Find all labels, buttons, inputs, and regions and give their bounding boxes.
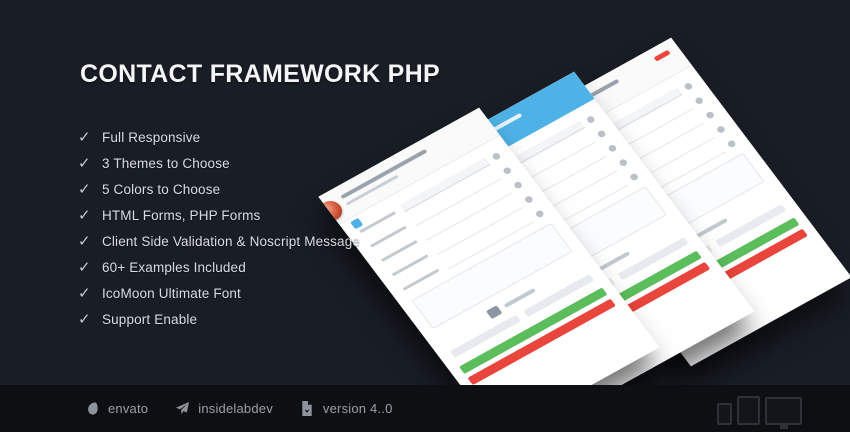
feature-item: ✓ Full Responsive	[78, 124, 360, 150]
check-icon: ✓	[78, 286, 102, 301]
feature-item: ✓ 3 Themes to Choose	[78, 150, 360, 176]
footer-item-author[interactable]: insidelabdev	[174, 401, 273, 417]
feature-label: HTML Forms, PHP Forms	[102, 208, 260, 223]
feature-item: ✓ HTML Forms, PHP Forms	[78, 202, 360, 228]
footer-label: envato	[108, 401, 148, 416]
feature-item: ✓ IcoMoon Ultimate Font	[78, 280, 360, 306]
promo-banner: CONTACT FRAMEWORK PHP ✓ Full Responsive …	[0, 0, 850, 432]
check-icon: ✓	[78, 312, 102, 327]
feature-item: ✓ 60+ Examples Included	[78, 254, 360, 280]
status-badge	[654, 50, 671, 62]
check-icon: ✓	[78, 234, 102, 249]
feature-label: 5 Colors to Choose	[102, 182, 220, 197]
check-icon: ✓	[78, 182, 102, 197]
envato-leaf-icon	[84, 401, 100, 417]
feature-label: 3 Themes to Choose	[102, 156, 230, 171]
footer-item-version[interactable]: version 4..0	[299, 401, 393, 417]
check-icon: ✓	[78, 130, 102, 145]
check-icon: ✓	[78, 156, 102, 171]
tablet-icon	[737, 396, 760, 425]
feature-item: ✓ Client Side Validation & Noscript Mess…	[78, 228, 360, 254]
footer-label: version 4..0	[323, 401, 393, 416]
paper-plane-icon	[174, 401, 190, 417]
feature-label: Support Enable	[102, 312, 197, 327]
device-support-icons	[717, 396, 802, 425]
feature-list: ✓ Full Responsive ✓ 3 Themes to Choose ✓…	[78, 124, 360, 332]
desktop-icon	[765, 397, 802, 425]
footer-bar: envato insidelabdev version 4..0	[0, 385, 850, 432]
check-icon: ✓	[78, 208, 102, 223]
feature-label: Full Responsive	[102, 130, 200, 145]
footer-label: insidelabdev	[198, 401, 273, 416]
feature-label: Client Side Validation & Noscript Messag…	[102, 234, 360, 249]
file-download-icon	[299, 401, 315, 417]
page-title: CONTACT FRAMEWORK PHP	[80, 60, 440, 89]
feature-label: IcoMoon Ultimate Font	[102, 286, 241, 301]
phone-icon	[717, 403, 732, 425]
check-icon: ✓	[78, 260, 102, 275]
feature-item: ✓ 5 Colors to Choose	[78, 176, 360, 202]
footer-item-envato[interactable]: envato	[84, 401, 148, 417]
feature-label: 60+ Examples Included	[102, 260, 246, 275]
feature-item: ✓ Support Enable	[78, 306, 360, 332]
